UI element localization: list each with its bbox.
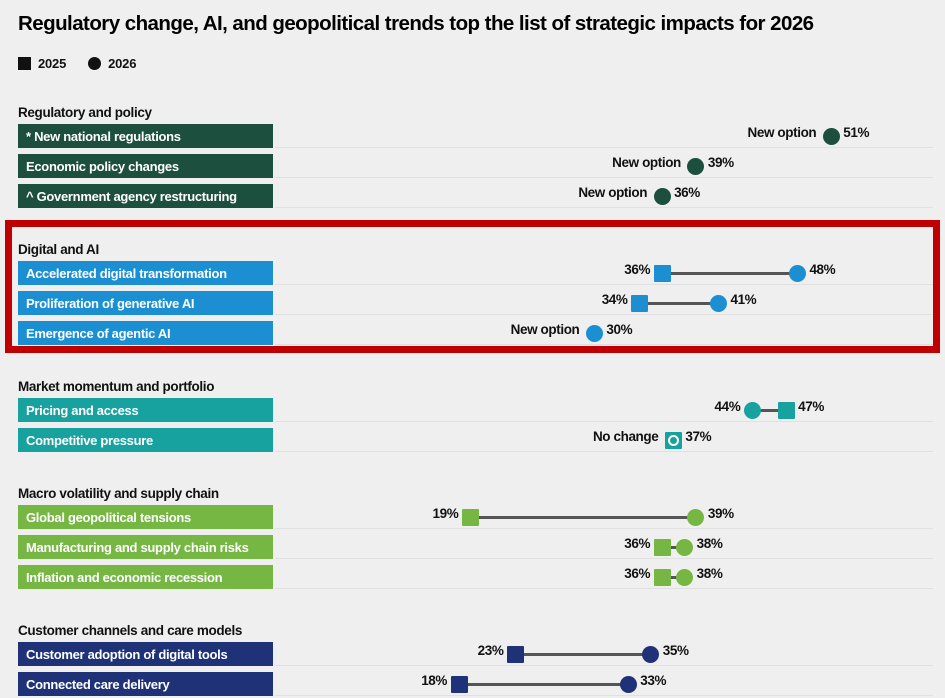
group-title: Digital and AI — [18, 242, 99, 257]
value-label: 39% — [705, 155, 734, 170]
connector-line — [640, 302, 719, 305]
group-title: Market momentum and portfolio — [18, 379, 214, 394]
value-label: 41% — [727, 292, 756, 307]
chart-row[interactable]: Customer adoption of digital tools23%35% — [0, 642, 945, 666]
chart-row[interactable]: Emergence of agentic AI30%New option — [0, 321, 945, 345]
marker-2025[interactable] — [451, 676, 468, 693]
value-label: 37% — [682, 429, 711, 444]
row-plot: 44%47% — [0, 398, 945, 422]
row-plot: 36%48% — [0, 261, 945, 285]
marker-2026[interactable] — [668, 435, 679, 446]
value-label: 44% — [714, 399, 743, 414]
group-title: Customer channels and care models — [18, 623, 242, 638]
value-label: 39% — [705, 506, 734, 521]
marker-2026[interactable] — [687, 509, 704, 526]
value-label: 34% — [602, 292, 631, 307]
value-label: 47% — [795, 399, 824, 414]
chart-row[interactable]: Pricing and access44%47% — [0, 398, 945, 422]
group-title: Regulatory and policy — [18, 105, 152, 120]
marker-2026[interactable] — [620, 676, 637, 693]
chart-plot-area: Regulatory and policy* New national regu… — [0, 0, 945, 698]
value-label: 36% — [671, 185, 700, 200]
row-note-label: New option — [511, 322, 586, 337]
row-plot: 30%New option — [0, 321, 945, 345]
connector-line — [459, 683, 628, 686]
value-label: 33% — [637, 673, 666, 688]
connector-line — [470, 516, 696, 519]
marker-2026[interactable] — [676, 569, 693, 586]
marker-2026[interactable] — [789, 265, 806, 282]
marker-2026[interactable] — [642, 646, 659, 663]
value-label: 36% — [624, 566, 653, 581]
value-label: 30% — [603, 322, 632, 337]
row-note-label: New option — [612, 155, 687, 170]
marker-2026[interactable] — [687, 158, 704, 175]
row-note-label: New option — [578, 185, 653, 200]
marker-2025[interactable] — [654, 539, 671, 556]
row-note-label: New option — [748, 125, 823, 140]
row-plot: 19%39% — [0, 505, 945, 529]
chart-row[interactable]: Competitive pressure37%No change — [0, 428, 945, 452]
row-plot: 36%38% — [0, 565, 945, 589]
marker-2025[interactable] — [507, 646, 524, 663]
marker-2026[interactable] — [744, 402, 761, 419]
value-label: 36% — [624, 262, 653, 277]
marker-2026[interactable] — [586, 325, 603, 342]
connector-line — [515, 653, 650, 656]
marker-2026[interactable] — [676, 539, 693, 556]
chart-row[interactable]: Connected care delivery18%33% — [0, 672, 945, 696]
value-label: 18% — [421, 673, 450, 688]
value-label: 38% — [694, 566, 723, 581]
marker-2026[interactable] — [710, 295, 727, 312]
marker-2025[interactable] — [462, 509, 479, 526]
row-note-label: No change — [593, 429, 664, 444]
value-label: 19% — [432, 506, 461, 521]
chart-row[interactable]: Inflation and economic recession36%38% — [0, 565, 945, 589]
chart-row[interactable]: ^ Government agency restructuring36%New … — [0, 184, 945, 208]
value-label: 38% — [694, 536, 723, 551]
marker-2025[interactable] — [654, 265, 671, 282]
row-plot: 18%33% — [0, 672, 945, 696]
marker-2026[interactable] — [654, 188, 671, 205]
value-label: 51% — [840, 125, 869, 140]
marker-2025[interactable] — [654, 569, 671, 586]
chart-row[interactable]: Economic policy changes39%New option — [0, 154, 945, 178]
group-title: Macro volatility and supply chain — [18, 486, 219, 501]
connector-line — [662, 272, 797, 275]
value-label: 48% — [806, 262, 835, 277]
row-plot: 37%No change — [0, 428, 945, 452]
value-label: 35% — [660, 643, 689, 658]
marker-2026[interactable] — [823, 128, 840, 145]
row-plot: 36%38% — [0, 535, 945, 559]
marker-2025[interactable] — [778, 402, 795, 419]
chart-row[interactable]: Accelerated digital transformation36%48% — [0, 261, 945, 285]
row-plot: 51%New option — [0, 124, 945, 148]
chart-row[interactable]: Global geopolitical tensions19%39% — [0, 505, 945, 529]
chart-row[interactable]: Proliferation of generative AI34%41% — [0, 291, 945, 315]
row-plot: 23%35% — [0, 642, 945, 666]
chart-row[interactable]: * New national regulations51%New option — [0, 124, 945, 148]
row-plot: 36%New option — [0, 184, 945, 208]
marker-2025[interactable] — [631, 295, 648, 312]
chart-row[interactable]: Manufacturing and supply chain risks36%3… — [0, 535, 945, 559]
value-label: 36% — [624, 536, 653, 551]
row-plot: 39%New option — [0, 154, 945, 178]
row-plot: 34%41% — [0, 291, 945, 315]
value-label: 23% — [478, 643, 507, 658]
